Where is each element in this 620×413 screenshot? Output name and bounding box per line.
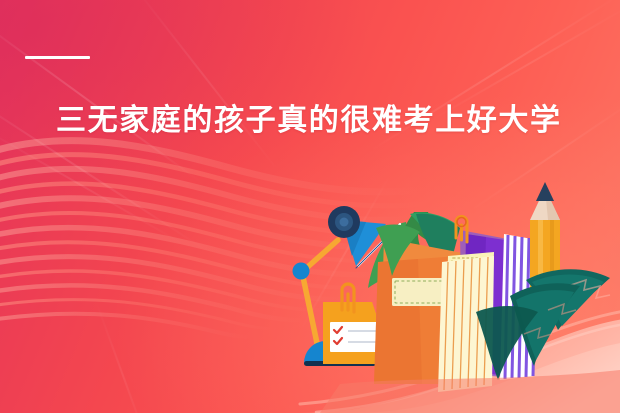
lamp-lower-arm (302, 272, 318, 348)
decorative-underline (25, 56, 90, 59)
lamp-joint (293, 263, 310, 280)
light-streak (0, 70, 207, 251)
notebook-label (392, 278, 446, 306)
page-title: 三无家庭的孩子真的很难考上好大学 (56, 102, 562, 140)
pencil-tip (536, 182, 554, 201)
stationery-illustration (280, 170, 620, 413)
light-streak (95, 301, 151, 413)
article-cover-banner: 三无家庭的孩子真的很难考上好大学 (0, 0, 620, 413)
